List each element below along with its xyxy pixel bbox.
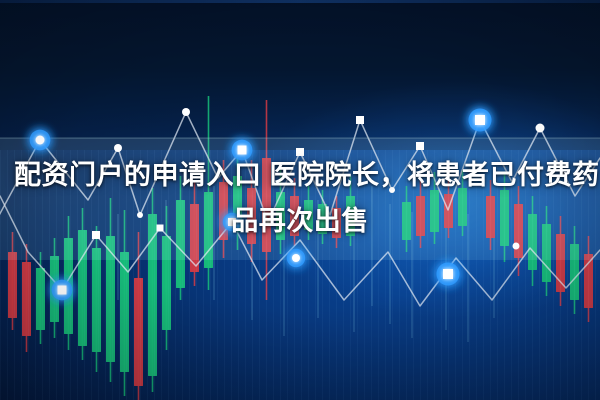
headline-line-1: 配资门户的申请入口 医院院长，将患者已付费药 — [14, 152, 586, 198]
banner-image: 配资门户的申请入口 医院院长，将患者已付费药 品再次出售 — [0, 0, 600, 400]
headline-line-2: 品再次出售 — [14, 198, 586, 244]
headline-text: 配资门户的申请入口 医院院长，将患者已付费药 品再次出售 — [0, 152, 600, 244]
